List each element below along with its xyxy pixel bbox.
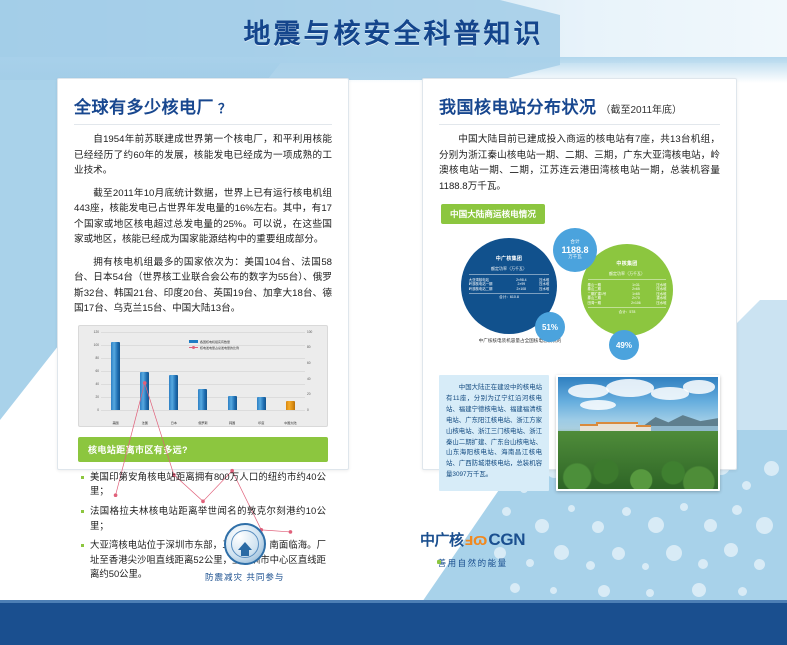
- y-tick-right-4: 80: [307, 345, 325, 349]
- cgn-plant-table: 大亚湾核电站2×98.4压水堆岭澳核电站一期2×99压水堆岭澳核电站二期2×10…: [469, 278, 550, 292]
- cgn-logo-group: 中广核 ⅎ⁠ɷ CGN 善用自然的能量: [420, 529, 525, 569]
- footer-bar: [0, 603, 787, 645]
- right-paragraph: 中国大陆目前已建成投入商运的核电站有7座，共13台机组，分别为浙江秦山核电站一期…: [439, 132, 720, 194]
- photo-row: 中国大陆正在建设中的核电站有11座，分别为辽宁红沿河核电站、福建宁德核电站、福建…: [439, 375, 720, 491]
- left-panel-title-mark: ？: [218, 98, 231, 117]
- cnnc-table-rule-bottom: [588, 307, 665, 308]
- cgn-table-rule-top: [469, 274, 550, 275]
- y-tick-left-1: 20: [81, 395, 99, 399]
- y-tick-left-4: 80: [81, 356, 99, 360]
- y-tick-right-3: 60: [307, 361, 325, 365]
- table-row: 岭澳核电站二期2×108压水堆: [469, 287, 550, 292]
- chart-x-label: 日本: [167, 422, 181, 425]
- chart-x-label: 法国: [138, 422, 152, 425]
- cgn-slogan-text: 善用自然的能量: [438, 558, 508, 568]
- left-paragraph-2: 截至2011年10月底统计数据，世界上已有运行核电机组443座，核能发电已占世界…: [74, 186, 332, 248]
- legend-swatch-bar: [189, 340, 198, 343]
- nuclear-plant-photo: [556, 375, 720, 491]
- footer-logos: 防震减灾 共同参与 中广核 ⅎ⁠ɷ CGN 善用自然的能量: [0, 523, 787, 603]
- legend-label-bar: 各国核电机组实有数量: [200, 340, 230, 344]
- legend-item-line: 核电发电量占总发电量的比例: [189, 346, 239, 350]
- cgn-group-name: 中广核集团: [461, 238, 557, 262]
- table-row: 田湾一期2×106压水堆: [587, 301, 666, 306]
- house-icon: [238, 542, 252, 550]
- chart-legend: 各国核电机组实有数量 核电发电量占总发电量的比例: [189, 340, 239, 352]
- cnnc-table-rule-top: [588, 279, 665, 280]
- chart-x-axis-labels: 美国法国日本俄罗斯韩国印度中国大陆: [101, 422, 305, 425]
- chart-x-label: 中国大陆: [283, 422, 297, 425]
- disaster-prevention-logo-group: 防震减灾 共同参与: [205, 523, 284, 583]
- left-panel-title-row: 全球有多少核电厂 ？: [74, 93, 332, 125]
- nuclear-reactor-bar-chart: 0 20 40 60 80 100 120 0 20 40 60 80 100: [78, 325, 328, 427]
- y-tick-right-1: 20: [307, 392, 325, 396]
- y-tick-left-6: 120: [81, 330, 99, 334]
- y-tick-right-2: 40: [307, 377, 325, 381]
- total-capacity-unit: 万千瓦: [568, 255, 581, 259]
- leaf-icon: [437, 560, 441, 564]
- table-cell: 岭澳核电站二期: [469, 287, 512, 292]
- right-panel: 我国核电站分布状况 （截至2011年底） 中国大陆目前已建成投入商运的核电站有7…: [422, 78, 737, 470]
- cgn-logo-en: CGN: [488, 530, 525, 550]
- poster-stage: 地震与核安全科普知识 全球有多少核电厂 ？ 自1954年前苏联建成世界第一个核电…: [0, 0, 787, 645]
- cnnc-plant-table: 秦山一期1×31压水堆秦山二期2×65压水堆二期扩建1号1×65压水堆秦山三期2…: [587, 283, 666, 306]
- y-tick-left-2: 40: [81, 382, 99, 386]
- cgn-logo: 中广核 ⅎ⁠ɷ CGN: [420, 529, 525, 550]
- commercial-operation-tag: 中国大陆商运核电情况: [441, 204, 545, 224]
- y-tick-right-0: 0: [307, 408, 325, 412]
- legend-item-bars: 各国核电机组实有数量: [189, 340, 239, 344]
- left-panel-title: 全球有多少核电厂: [74, 93, 214, 118]
- legend-label-line: 核电发电量占总发电量的比例: [200, 346, 239, 350]
- left-panel: 全球有多少核电厂 ？ 自1954年前苏联建成世界第一个核电厂，和平利用核能已经经…: [57, 78, 349, 470]
- cgn-total: 合计：610.8: [461, 295, 557, 300]
- table-cell: 2×106: [626, 301, 646, 306]
- table-cell: 田湾一期: [587, 301, 626, 306]
- list-item: 美国印第安角核电站距离拥有800万人口的纽约市约40公里；: [80, 470, 326, 499]
- shield-seal-icon: [224, 523, 266, 565]
- right-panel-title-row: 我国核电站分布状况 （截至2011年底）: [439, 93, 720, 125]
- page-title: 地震与核安全科普知识: [0, 12, 787, 51]
- cgn-percent-badge: 51%: [535, 312, 565, 342]
- capacity-bubble-diagram: 中广核集团 额定功率（万千瓦） 大亚湾核电站2×98.4压水堆岭澳核电站一期2×…: [439, 226, 720, 371]
- legend-swatch-line: [189, 347, 198, 348]
- table-cell: 压水堆: [646, 301, 667, 306]
- cnnc-group-subtitle: 额定功率（万千瓦）: [581, 271, 673, 277]
- table-cell: 2×108: [512, 287, 531, 292]
- diagram-caption: 中广核核电装机容量占全国核电总装机的: [445, 338, 595, 344]
- chart-x-label: 韩国: [225, 422, 239, 425]
- chart-x-label: 美国: [109, 422, 123, 425]
- cgn-group-subtitle: 额定功率（万千瓦）: [461, 266, 557, 272]
- cnnc-total: 合计：578: [581, 310, 673, 315]
- table-cell: 压水堆: [531, 287, 550, 292]
- disaster-prevention-caption: 防震减灾 共同参与: [205, 571, 284, 583]
- cnnc-percent-badge: 49%: [609, 330, 639, 360]
- right-panel-title: 我国核电站分布状况: [439, 93, 597, 118]
- right-panel-title-note: （截至2011年底）: [601, 101, 683, 116]
- cgn-logo-cn: 中广核: [420, 529, 464, 550]
- y-tick-left-3: 60: [81, 369, 99, 373]
- left-paragraph-1: 自1954年前苏联建成世界第一个核电厂，和平利用核能已经经历了约60年的发展，核…: [74, 132, 332, 179]
- y-tick-right-5: 100: [307, 330, 325, 334]
- chart-x-label: 印度: [254, 422, 268, 425]
- left-paragraph-3: 拥有核电机组最多的国家依次为：美国104台、法国58台、日本54台（世界核工业联…: [74, 255, 332, 317]
- chart-x-label: 俄罗斯: [196, 422, 210, 425]
- under-construction-text: 中国大陆正在建设中的核电站有11座，分别为辽宁红沿河核电站、福建宁德核电站、福建…: [439, 375, 549, 491]
- cgn-slogan: 善用自然的能量: [438, 557, 508, 569]
- y-tick-left-0: 0: [81, 408, 99, 412]
- cgn-table-rule-bottom: [469, 293, 550, 294]
- total-capacity-circle: 合计 1188.8 万千瓦: [553, 228, 597, 272]
- swirl-icon: ⅎ⁠ɷ: [465, 531, 488, 548]
- y-tick-left-5: 100: [81, 343, 99, 347]
